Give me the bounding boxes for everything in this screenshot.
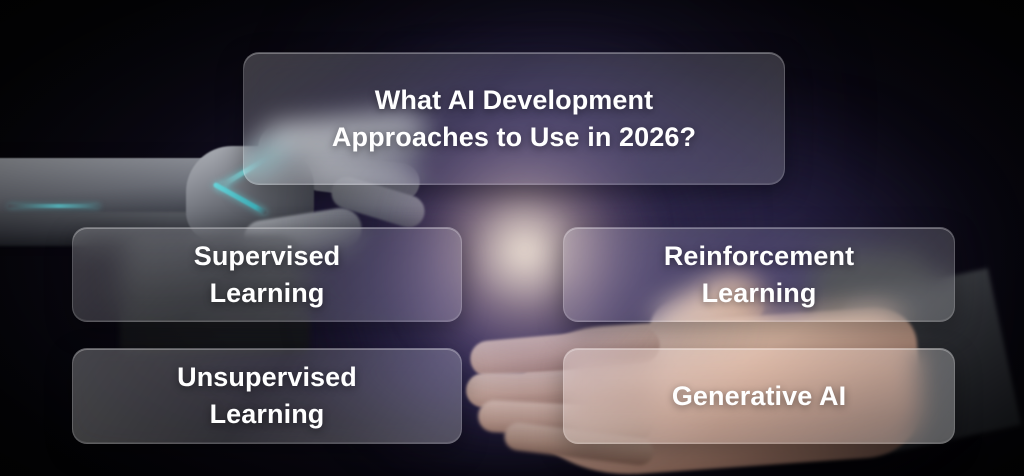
card-label: Unsupervised Learning	[163, 359, 371, 433]
card-label-line-1: Supervised	[194, 241, 341, 271]
card-generative-ai[interactable]: Generative AI	[563, 348, 955, 444]
card-unsupervised-learning[interactable]: Unsupervised Learning	[72, 348, 462, 444]
headline-card: What AI Development Approaches to Use in…	[243, 52, 785, 185]
card-label-line-2: Learning	[702, 278, 817, 308]
card-label-line-2: Learning	[210, 399, 325, 429]
card-label-line-1: Generative AI	[672, 381, 846, 411]
card-label-line-1: Reinforcement	[664, 241, 854, 271]
card-label-line-2: Learning	[210, 278, 325, 308]
headline-line-2: Approaches to Use in 2026?	[332, 122, 696, 152]
card-reinforcement-learning[interactable]: Reinforcement Learning	[563, 227, 955, 322]
hero-graphic: What AI Development Approaches to Use in…	[0, 0, 1024, 476]
headline-line-1: What AI Development	[375, 85, 653, 115]
card-label: Supervised Learning	[180, 238, 355, 312]
page-title: What AI Development Approaches to Use in…	[318, 82, 710, 156]
card-label-line-1: Unsupervised	[177, 362, 357, 392]
card-supervised-learning[interactable]: Supervised Learning	[72, 227, 462, 322]
card-label: Generative AI	[658, 378, 860, 415]
card-label: Reinforcement Learning	[650, 238, 868, 312]
